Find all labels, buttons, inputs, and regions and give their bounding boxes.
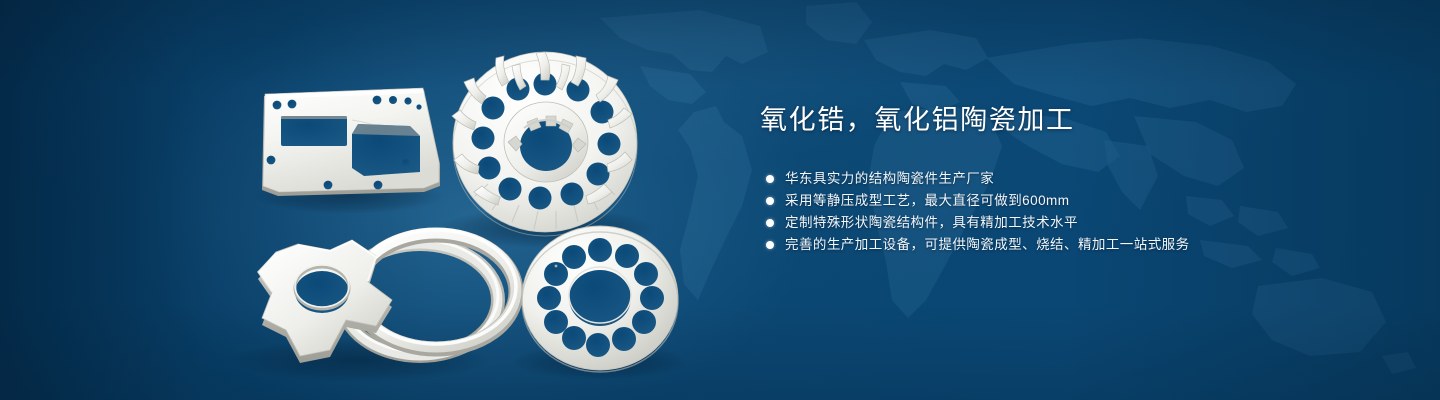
- product-photo-cluster: [0, 0, 760, 400]
- bullet-dot-icon: [766, 197, 774, 205]
- list-item: 定制特殊形状陶瓷结构件，具有精加工技术水平: [760, 212, 1400, 234]
- bullet-dot-icon: [766, 175, 774, 183]
- hero-banner: 氧化锆，氧化铝陶瓷加工 华东具实力的结构陶瓷件生产厂家 采用等静压成型工艺，最大…: [0, 0, 1440, 400]
- ceramic-machined-plate: [262, 88, 440, 196]
- list-item: 华东具实力的结构陶瓷件生产厂家: [760, 168, 1400, 190]
- feature-list: 华东具实力的结构陶瓷件生产厂家 采用等静压成型工艺，最大直径可做到600mm 定…: [760, 168, 1400, 256]
- ceramic-impeller: [452, 52, 637, 236]
- feature-text: 华东具实力的结构陶瓷件生产厂家: [785, 168, 994, 190]
- list-item: 完善的生产加工设备，可提供陶瓷成型、烧结、精加工一站式服务: [760, 234, 1400, 256]
- feature-text: 完善的生产加工设备，可提供陶瓷成型、烧结、精加工一站式服务: [785, 234, 1190, 256]
- bullet-dot-icon: [766, 219, 774, 227]
- banner-copy: 氧化锆，氧化铝陶瓷加工 华东具实力的结构陶瓷件生产厂家 采用等静压成型工艺，最大…: [760, 104, 1400, 256]
- feature-text: 定制特殊形状陶瓷结构件，具有精加工技术水平: [785, 212, 1078, 234]
- bullet-dot-icon: [766, 241, 774, 249]
- feature-text: 采用等静压成型工艺，最大直径可做到600mm: [785, 190, 1069, 212]
- page-title: 氧化锆，氧化铝陶瓷加工: [760, 104, 1400, 138]
- list-item: 采用等静压成型工艺，最大直径可做到600mm: [760, 190, 1400, 212]
